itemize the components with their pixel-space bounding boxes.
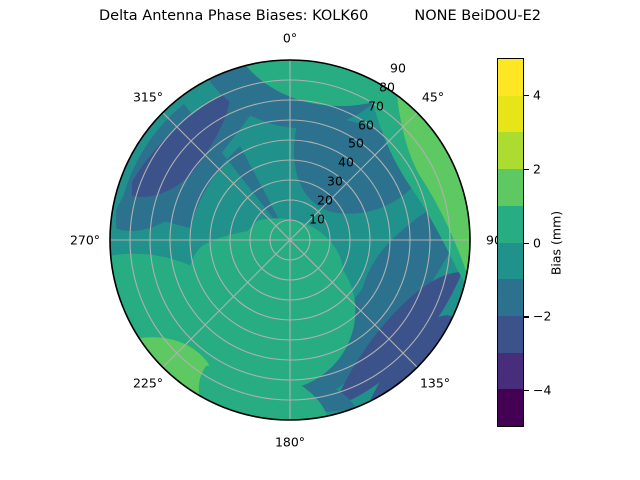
colorbar-tick-neg2 bbox=[524, 316, 529, 317]
r-label-80: 80 bbox=[379, 80, 395, 95]
colorbar-ticklabel-0: 0 bbox=[533, 235, 541, 250]
theta-label-45: 45° bbox=[422, 90, 444, 105]
figure-canvas: Delta Antenna Phase Biases: KOLK60 NONE … bbox=[0, 0, 640, 480]
colorbar-segment bbox=[498, 389, 523, 426]
colorbar-tick-4 bbox=[524, 95, 529, 96]
page-title: Delta Antenna Phase Biases: KOLK60 NONE … bbox=[0, 8, 640, 24]
r-label-30: 30 bbox=[327, 174, 343, 189]
theta-label-0: 0° bbox=[283, 31, 297, 46]
r-label-40: 40 bbox=[338, 155, 354, 170]
colorbar-segment bbox=[498, 279, 523, 316]
colorbar-segment bbox=[498, 243, 523, 280]
theta-label-225: 225° bbox=[133, 376, 163, 391]
colorbar-ticklabel-4: 4 bbox=[533, 87, 541, 102]
colorbar-segment bbox=[498, 353, 523, 390]
colorbar-segment bbox=[498, 206, 523, 243]
r-label-90: 90 bbox=[390, 61, 406, 76]
r-label-50: 50 bbox=[348, 136, 364, 151]
colorbar-gradient bbox=[497, 58, 524, 427]
polar-axes[interactable]: 0° 45° 90 135° 180° 225° 270° 315° 10 20… bbox=[110, 60, 470, 420]
colorbar-tick-2 bbox=[524, 169, 529, 170]
colorbar-segment bbox=[498, 316, 523, 353]
colorbar-tick-neg4 bbox=[524, 390, 529, 391]
colorbar-axis-label: Bias (mm) bbox=[549, 211, 564, 275]
theta-label-180: 180° bbox=[275, 435, 305, 450]
r-label-10: 10 bbox=[309, 212, 325, 227]
polar-grid bbox=[110, 60, 470, 420]
colorbar[interactable]: 4 2 0 −2 −4 bbox=[497, 58, 524, 427]
colorbar-tick-0 bbox=[524, 243, 529, 244]
theta-label-135: 135° bbox=[420, 376, 450, 391]
theta-label-315: 315° bbox=[133, 90, 163, 105]
colorbar-segment bbox=[498, 169, 523, 206]
colorbar-ticklabel-2: 2 bbox=[533, 161, 541, 176]
colorbar-segment bbox=[498, 132, 523, 169]
r-label-70: 70 bbox=[368, 99, 384, 114]
colorbar-segment bbox=[498, 96, 523, 133]
colorbar-ticklabel-neg2: −2 bbox=[533, 309, 551, 324]
r-label-60: 60 bbox=[358, 118, 374, 133]
colorbar-segment bbox=[498, 59, 523, 96]
theta-label-270: 270° bbox=[70, 233, 100, 248]
colorbar-ticklabel-neg4: −4 bbox=[533, 383, 551, 398]
polar-plot-svg bbox=[110, 60, 470, 420]
r-label-20: 20 bbox=[317, 193, 333, 208]
